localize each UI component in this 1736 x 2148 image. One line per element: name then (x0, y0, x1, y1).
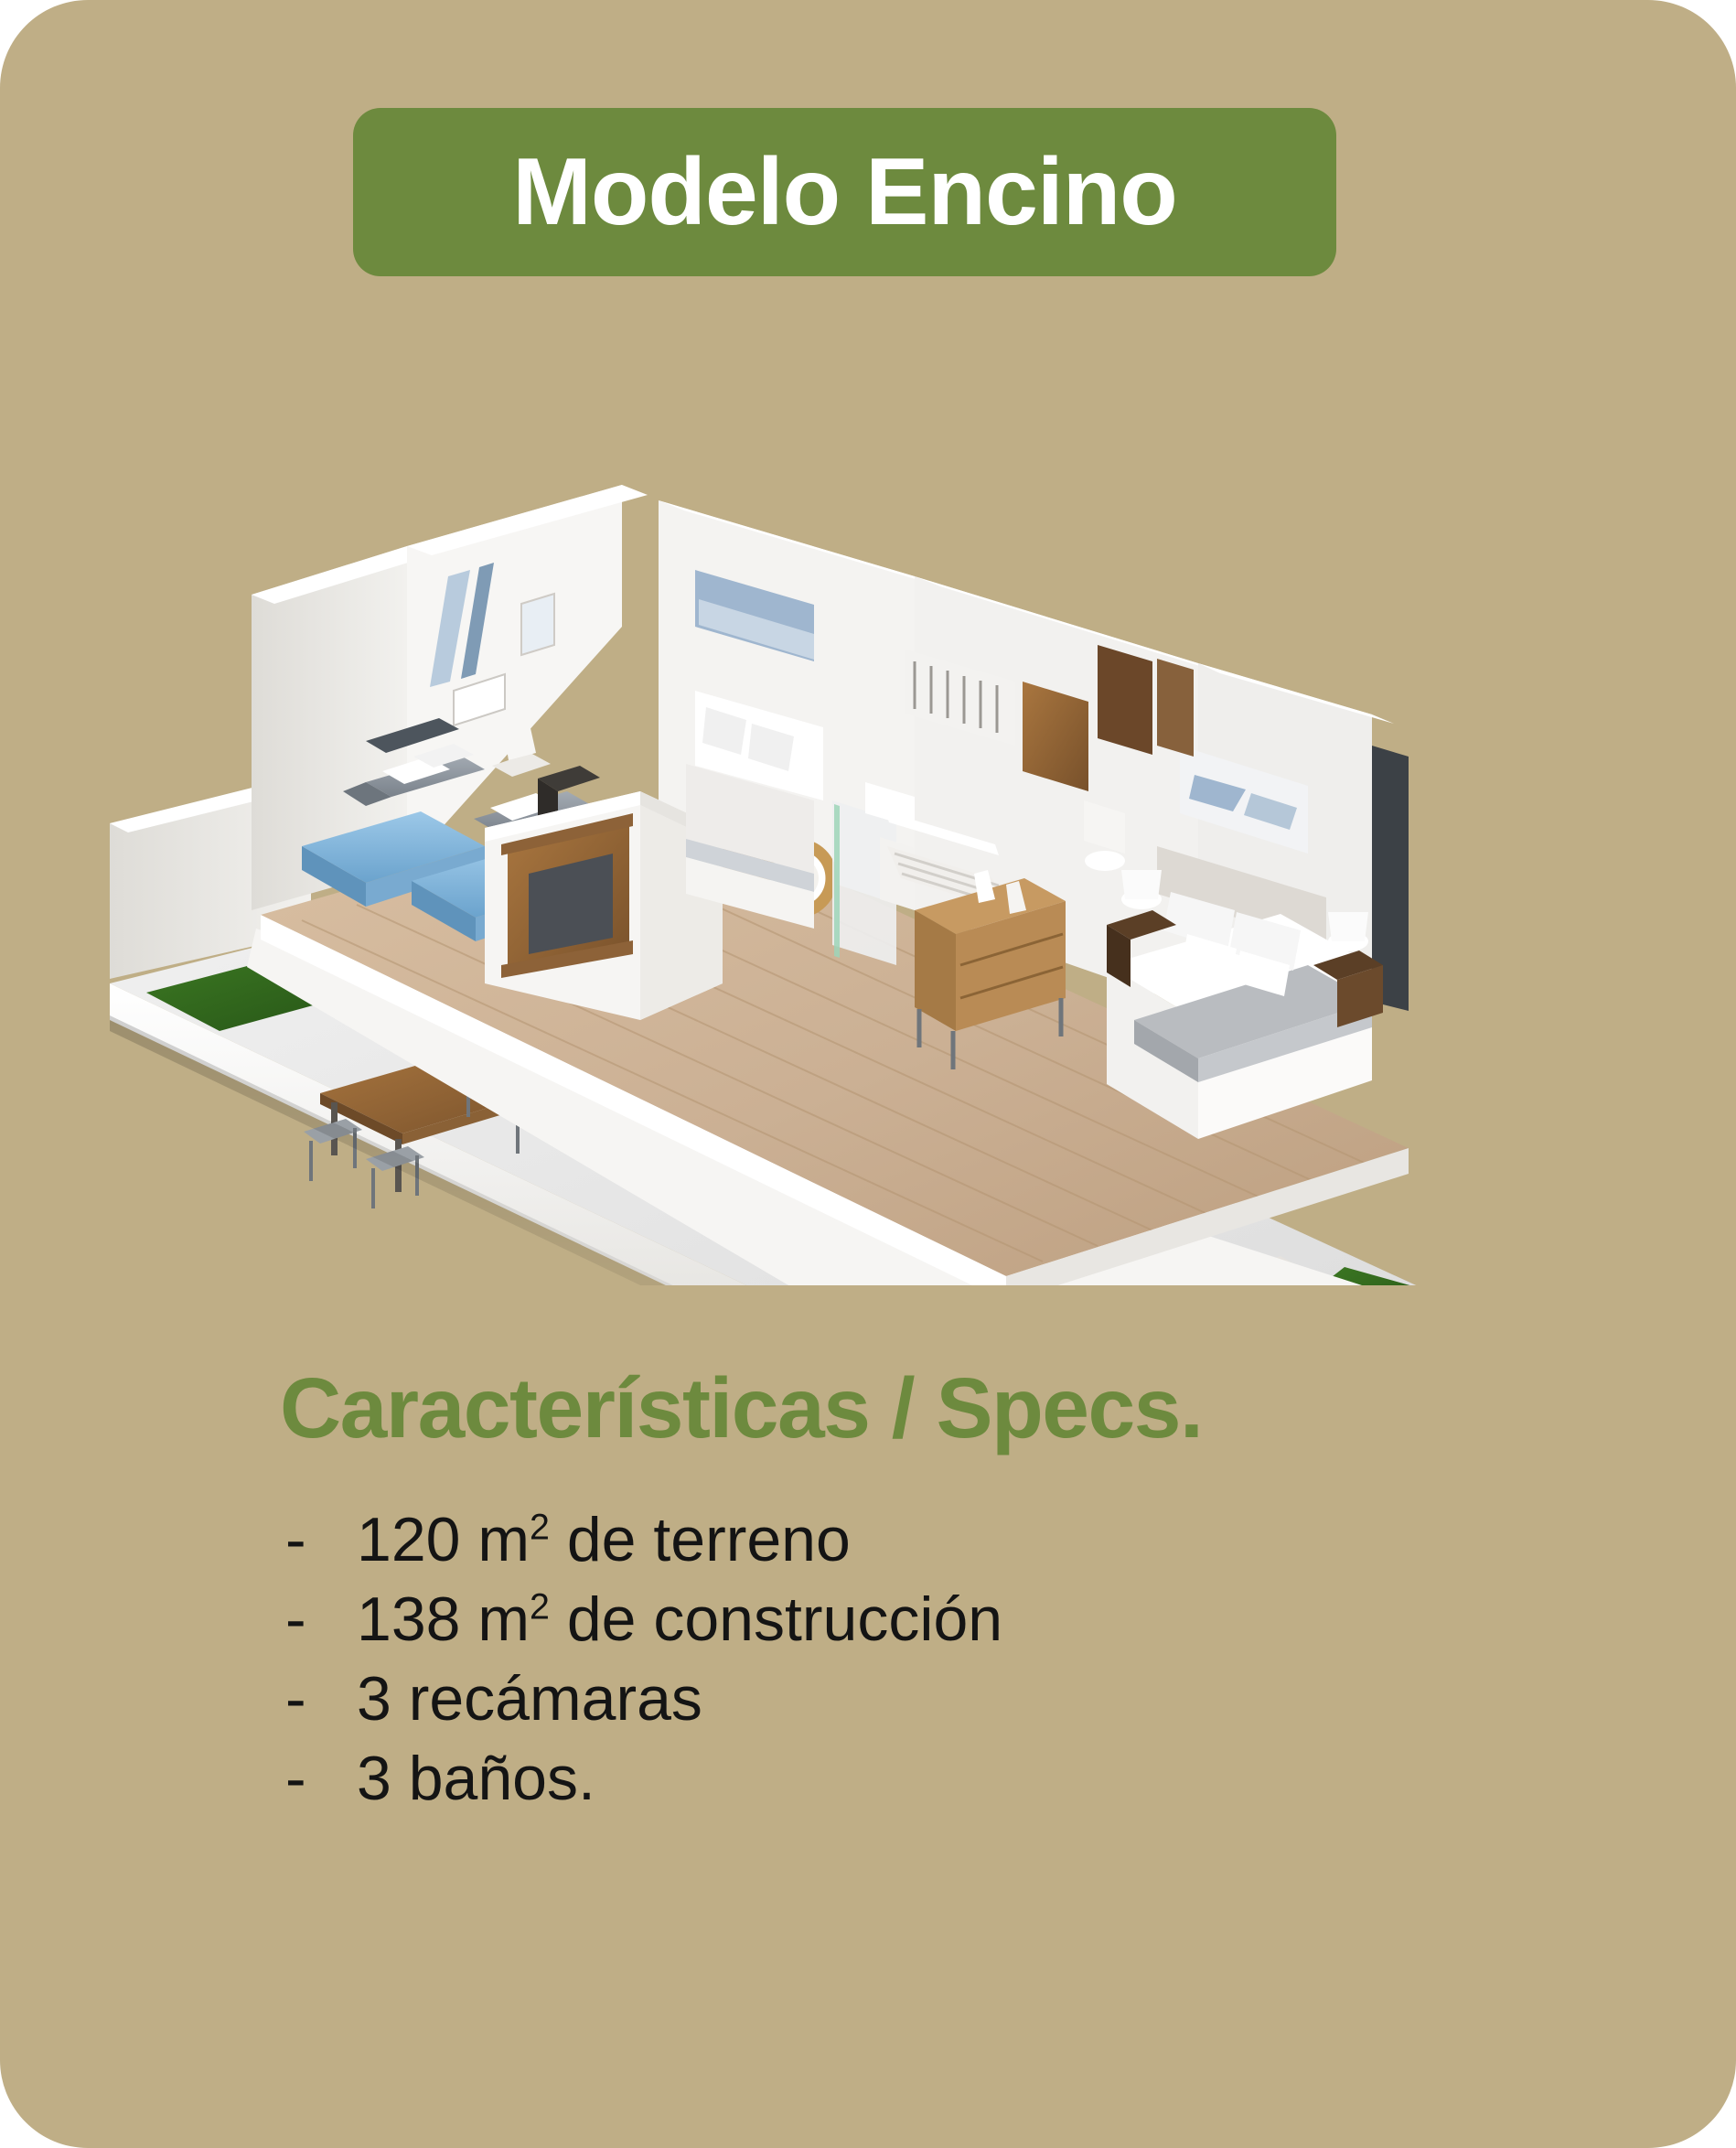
list-item: - 3 baños. (285, 1739, 1002, 1819)
spec-text: 120 m2 de terreno (357, 1500, 851, 1580)
bullet-dash: - (285, 1580, 357, 1659)
spec-text: 138 m2 de construcción (357, 1580, 1002, 1659)
specs-list: - 120 m2 de terreno - 138 m2 de construc… (285, 1500, 1002, 1819)
bedroom-double-bed (686, 691, 823, 929)
bullet-dash: - (285, 1500, 357, 1580)
floor-plan-illustration (91, 416, 1646, 1285)
list-item: - 120 m2 de terreno (285, 1500, 1002, 1580)
bullet-dash: - (285, 1739, 357, 1819)
floor-plan-render (91, 416, 1646, 1285)
list-item: - 3 recámaras (285, 1659, 1002, 1739)
specs-heading: Características / Specs. (280, 1360, 1202, 1455)
page-title: Modelo Encino (512, 145, 1177, 240)
spec-text: 3 recámaras (357, 1659, 702, 1739)
spec-text: 3 baños. (357, 1739, 595, 1819)
model-card: Modelo Encino (0, 0, 1736, 2148)
model-title-banner: Modelo Encino (353, 108, 1336, 276)
list-item: - 138 m2 de construcción (285, 1580, 1002, 1659)
bullet-dash: - (285, 1659, 357, 1739)
